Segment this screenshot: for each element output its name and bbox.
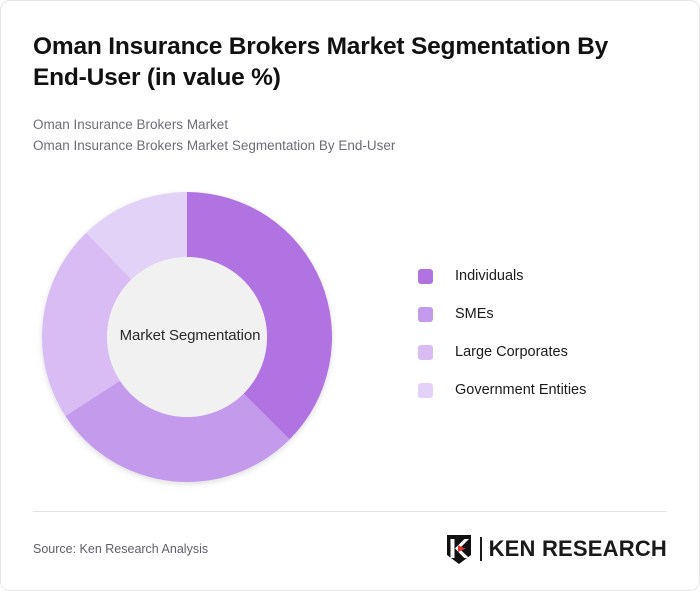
legend-label: Individuals (455, 268, 524, 284)
source-note: Source: Ken Research Analysis (33, 542, 208, 556)
chart-body: Market Segmentation IndividualsSMEsLarge… (33, 175, 667, 505)
legend-label: SMEs (455, 306, 494, 322)
subtitle-group: Oman Insurance Brokers Market Oman Insur… (33, 115, 667, 157)
brand-separator (480, 537, 482, 561)
legend-swatch-icon (418, 269, 433, 284)
legend-label: Government Entities (455, 382, 586, 398)
chart-card: Oman Insurance Brokers Market Segmentati… (0, 0, 700, 591)
legend-swatch-icon (418, 307, 433, 322)
legend-swatch-icon (418, 383, 433, 398)
page-title: Oman Insurance Brokers Market Segmentati… (33, 31, 633, 93)
donut-hole (107, 257, 267, 417)
footer-divider (33, 511, 667, 512)
legend-swatch-icon (418, 345, 433, 360)
legend-label: Large Corporates (455, 344, 568, 360)
legend-item-individuals[interactable]: Individuals (418, 257, 698, 295)
donut-chart: Market Segmentation (35, 175, 345, 495)
donut-svg (35, 175, 345, 495)
breadcrumb-market: Oman Insurance Brokers Market (33, 115, 667, 136)
ken-research-shield-icon (444, 533, 474, 565)
legend-item-government-entities[interactable]: Government Entities (418, 371, 698, 409)
chart-legend: IndividualsSMEsLarge CorporatesGovernmen… (418, 257, 698, 409)
legend-item-large-corporates[interactable]: Large Corporates (418, 333, 698, 371)
chart-footer: Source: Ken Research Analysis KEN RESEAR… (33, 529, 667, 569)
breadcrumb-segmentation: Oman Insurance Brokers Market Segmentati… (33, 136, 667, 157)
brand-name: KEN RESEARCH (489, 536, 667, 562)
brand-logo: KEN RESEARCH (444, 533, 667, 565)
legend-item-smes[interactable]: SMEs (418, 295, 698, 333)
